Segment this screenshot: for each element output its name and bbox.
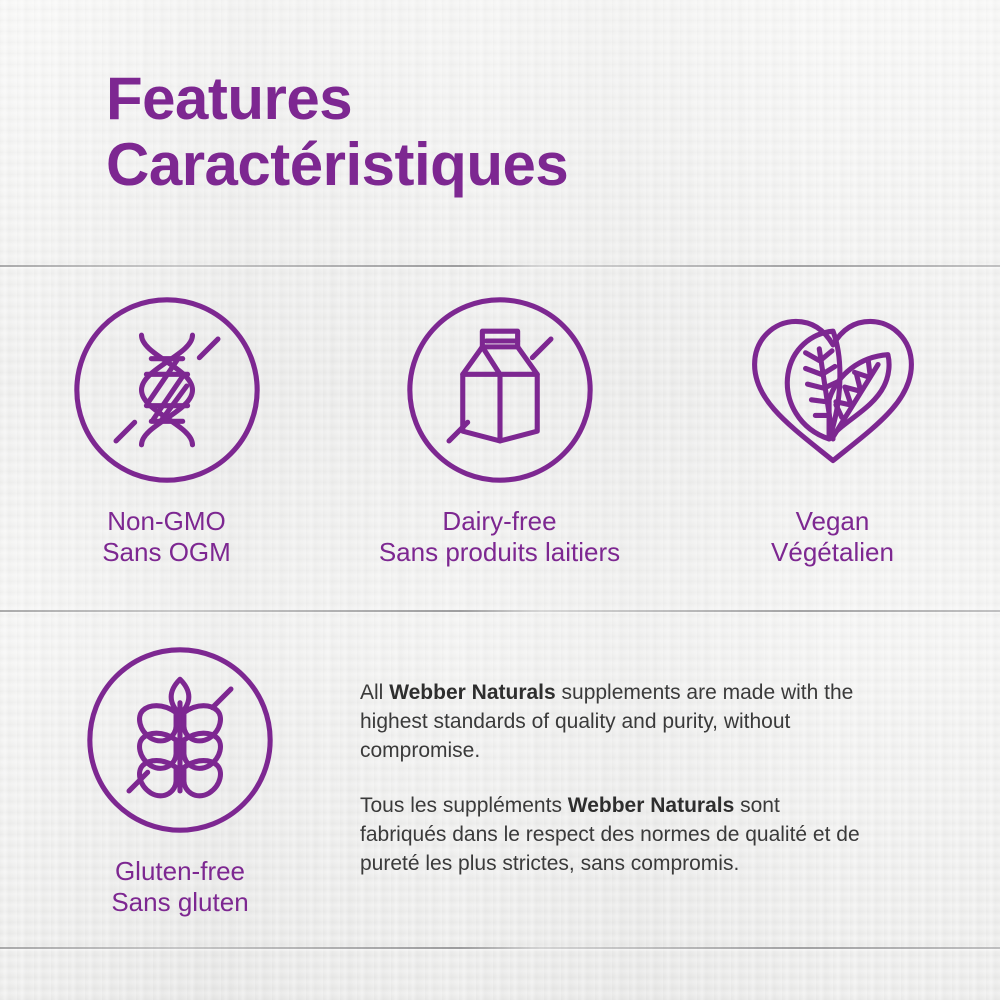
plank-seam-divider [0, 947, 1000, 949]
desc-en-before: All [360, 681, 389, 704]
title-line-en: Features [106, 66, 568, 132]
label-fr: Sans gluten [111, 887, 248, 918]
feature-item-non-gmo: Non-GMO Sans OGM [0, 290, 333, 568]
plank-seam-divider [0, 610, 1000, 612]
description-paragraph-fr: Tous les suppléments Webber Naturals son… [360, 791, 860, 878]
brand-name-en: Webber Naturals [389, 681, 556, 704]
no-gmo-dna-icon [69, 292, 265, 488]
vegan-art [735, 290, 931, 490]
label-fr: Sans OGM [102, 537, 231, 568]
label-en: Dairy-free [379, 506, 620, 537]
feature-label-dairy-free: Dairy-free Sans produits laitiers [379, 506, 620, 568]
title-line-fr: Caractéristiques [106, 132, 568, 198]
gluten-free-art [82, 640, 278, 840]
feature-item-dairy-free: Dairy-free Sans produits laitiers [333, 290, 666, 568]
feature-row-top: Non-GMO Sans OGM [0, 290, 1000, 568]
vegan-heart-leaves-icon [735, 292, 931, 488]
feature-item-vegan: Vegan Végétalien [666, 290, 999, 568]
label-en: Vegan [771, 506, 894, 537]
label-fr: Végétalien [771, 537, 894, 568]
feature-label-gluten-free: Gluten-free Sans gluten [111, 856, 248, 918]
page-title: Features Caractéristiques [106, 66, 568, 198]
brand-name-fr: Webber Naturals [568, 794, 735, 817]
desc-fr-before: Tous les suppléments [360, 794, 568, 817]
label-en: Gluten-free [111, 856, 248, 887]
no-dairy-carton-icon [402, 292, 598, 488]
feature-label-non-gmo: Non-GMO Sans OGM [102, 506, 231, 568]
label-fr: Sans produits laitiers [379, 537, 620, 568]
description-paragraph-en: All Webber Naturals supplements are made… [360, 678, 860, 765]
feature-item-gluten-free: Gluten-free Sans gluten [0, 640, 360, 918]
feature-infographic: Features Caractéristiques [0, 0, 1000, 1000]
feature-row-bottom: Gluten-free Sans gluten All Webber Natur… [0, 640, 1000, 918]
plank-seam-divider [0, 265, 1000, 267]
dairy-free-art [402, 290, 598, 490]
no-gluten-wheat-icon [82, 642, 278, 838]
feature-label-vegan: Vegan Végétalien [771, 506, 894, 568]
label-en: Non-GMO [102, 506, 231, 537]
description-block: All Webber Naturals supplements are made… [360, 640, 920, 918]
non-gmo-art [69, 290, 265, 490]
